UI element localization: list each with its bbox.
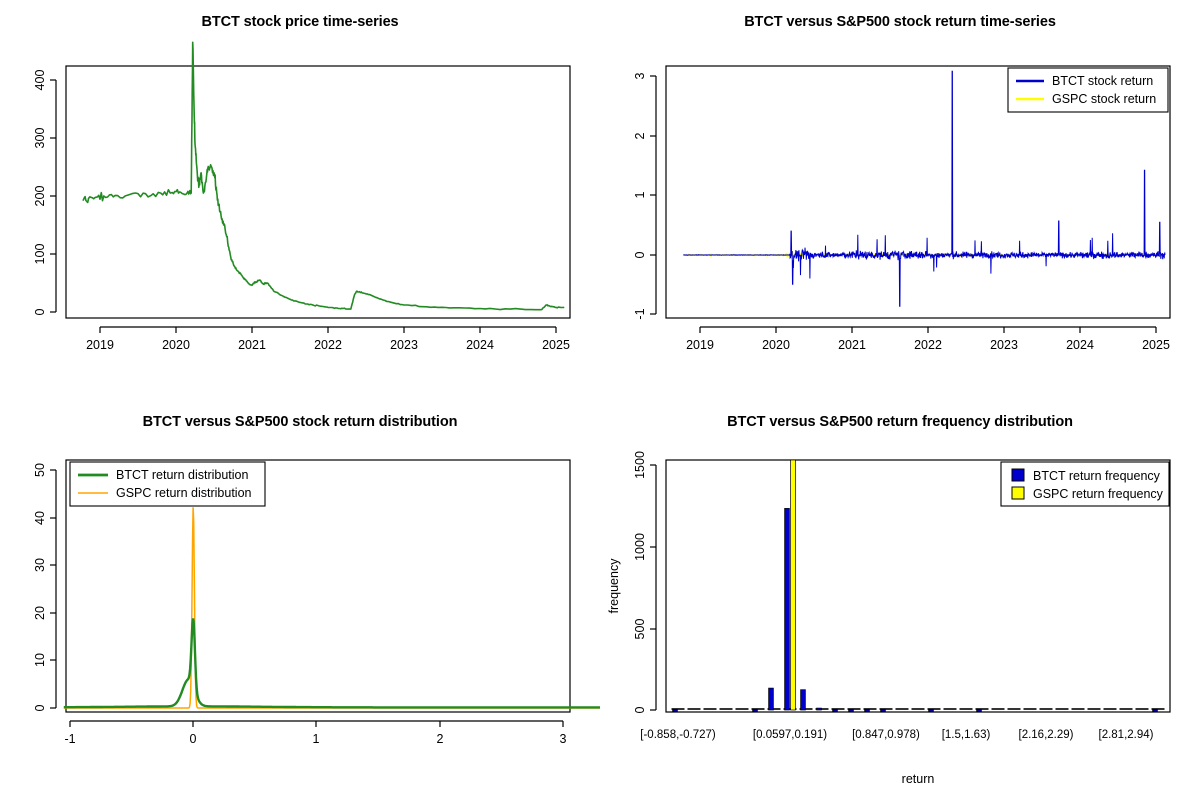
x-tick-labels-group: [-0.858,-0.727)[0.0597,0.191)[0.847,0.97… — [640, 729, 1153, 741]
x-tick-label-2019: 2019 — [686, 338, 714, 352]
plot-grid-page: BTCT stock price time-series 0 100 200 3… — [0, 0, 1200, 800]
x-tick-label-2020: 2020 — [162, 338, 190, 352]
y-tick-label-0: 0 — [33, 308, 47, 315]
y-tick-label-100: 100 — [33, 244, 47, 265]
x-tick-label-neg1: -1 — [64, 732, 75, 746]
x-tick-label-2022: 2022 — [314, 338, 342, 352]
y-tick-label-0: 0 — [633, 706, 647, 713]
y-tick-label-200: 200 — [33, 186, 47, 207]
panel-btct-vs-sp500-return-timeseries: BTCT versus S&P500 stock return time-ser… — [600, 0, 1200, 400]
x-tick-label-4: [2.16,2.29) — [1019, 729, 1074, 741]
y-tick-label-0: 0 — [633, 251, 647, 258]
legend-label-btct: BTCT return distribution — [116, 468, 249, 482]
panel-btct-price-timeseries: BTCT stock price time-series 0 100 200 3… — [0, 0, 600, 400]
plot-svg-btct-price: 0 100 200 300 400 2019 2020 2021 2022 20… — [0, 0, 600, 400]
y-tick-label-0: 0 — [33, 704, 47, 711]
plot-svg-return-timeseries: -1 0 1 2 3 2019 2020 2021 2022 2023 2024 — [600, 0, 1200, 400]
x-tick-label-2019: 2019 — [86, 338, 114, 352]
plot-svg-return-density: 0 10 20 30 40 50 -1 0 1 2 3 — [0, 400, 600, 800]
x-tick-label-2021: 2021 — [838, 338, 866, 352]
y-tick-label-500: 500 — [633, 619, 647, 640]
panel-return-histogram: BTCT versus S&P500 return frequency dist… — [600, 400, 1200, 800]
legend-label-gspc: GSPC return frequency — [1033, 487, 1164, 501]
y-tick-label-300: 300 — [33, 128, 47, 149]
legend-label-gspc: GSPC stock return — [1052, 92, 1156, 106]
x-tick-label-2: 2 — [437, 732, 444, 746]
x-tick-label-1: 1 — [313, 732, 320, 746]
x-tick-label-2024: 2024 — [466, 338, 494, 352]
panel-return-density: BTCT versus S&P500 stock return distribu… — [0, 400, 600, 800]
y-tick-label-20: 20 — [33, 606, 47, 620]
x-tick-label-2: [0.847,0.978) — [852, 729, 920, 741]
legend-label-gspc: GSPC return distribution — [116, 486, 252, 500]
x-tick-label-3: 3 — [560, 732, 567, 746]
x-tick-label-3: [1.5,1.63) — [942, 729, 991, 741]
x-tick-label-2025: 2025 — [1142, 338, 1170, 352]
y-tick-label-400: 400 — [33, 70, 47, 91]
x-tick-label-5: [2.81,2.94) — [1099, 729, 1154, 741]
x-tick-label-2025: 2025 — [542, 338, 570, 352]
y-tick-label-30: 30 — [33, 558, 47, 572]
series-group-bottom-left — [64, 507, 600, 708]
legend-label-btct: BTCT stock return — [1052, 74, 1153, 88]
y-tick-label-neg1: -1 — [633, 308, 647, 319]
legend-swatch-gspc-square — [1012, 487, 1024, 499]
legend-top-right[interactable]: BTCT stock return GSPC stock return — [1008, 68, 1168, 112]
y-tick-label-3: 3 — [633, 72, 647, 79]
x-tick-label-2023: 2023 — [390, 338, 418, 352]
x-tick-label-2023: 2023 — [990, 338, 1018, 352]
x-tick-label-2020: 2020 — [762, 338, 790, 352]
x-tick-label-2022: 2022 — [914, 338, 942, 352]
y-axis-title: frequency — [607, 558, 621, 614]
x-tick-label-2021: 2021 — [238, 338, 266, 352]
y-tick-label-40: 40 — [33, 511, 47, 525]
legend-bottom-left[interactable]: BTCT return distribution GSPC return dis… — [70, 462, 265, 506]
y-tick-label-50: 50 — [33, 463, 47, 477]
plot-box-border — [66, 66, 570, 318]
legend-bottom-right[interactable]: BTCT return frequency GSPC return freque… — [1001, 462, 1169, 506]
x-axis-title: return — [902, 772, 935, 786]
y-tick-label-10: 10 — [33, 653, 47, 667]
series-group-top-left — [83, 42, 563, 309]
y-tick-label-1500: 1500 — [633, 451, 647, 479]
x-tick-label-1: [0.0597,0.191) — [753, 729, 827, 741]
x-tick-label-2024: 2024 — [1066, 338, 1094, 352]
y-tick-label-2: 2 — [633, 132, 647, 139]
legend-swatch-btct-square — [1012, 469, 1024, 481]
plot-svg-return-histogram: 0 500 1000 1500 frequency return [-0.858… — [600, 400, 1200, 800]
series-line-btct-price — [83, 42, 563, 309]
y-tick-label-1000: 1000 — [633, 533, 647, 561]
x-tick-label-0: [-0.858,-0.727) — [640, 729, 716, 741]
x-tick-label-0: 0 — [190, 732, 197, 746]
y-tick-label-1: 1 — [633, 191, 647, 198]
legend-label-btct: BTCT return frequency — [1033, 469, 1161, 483]
